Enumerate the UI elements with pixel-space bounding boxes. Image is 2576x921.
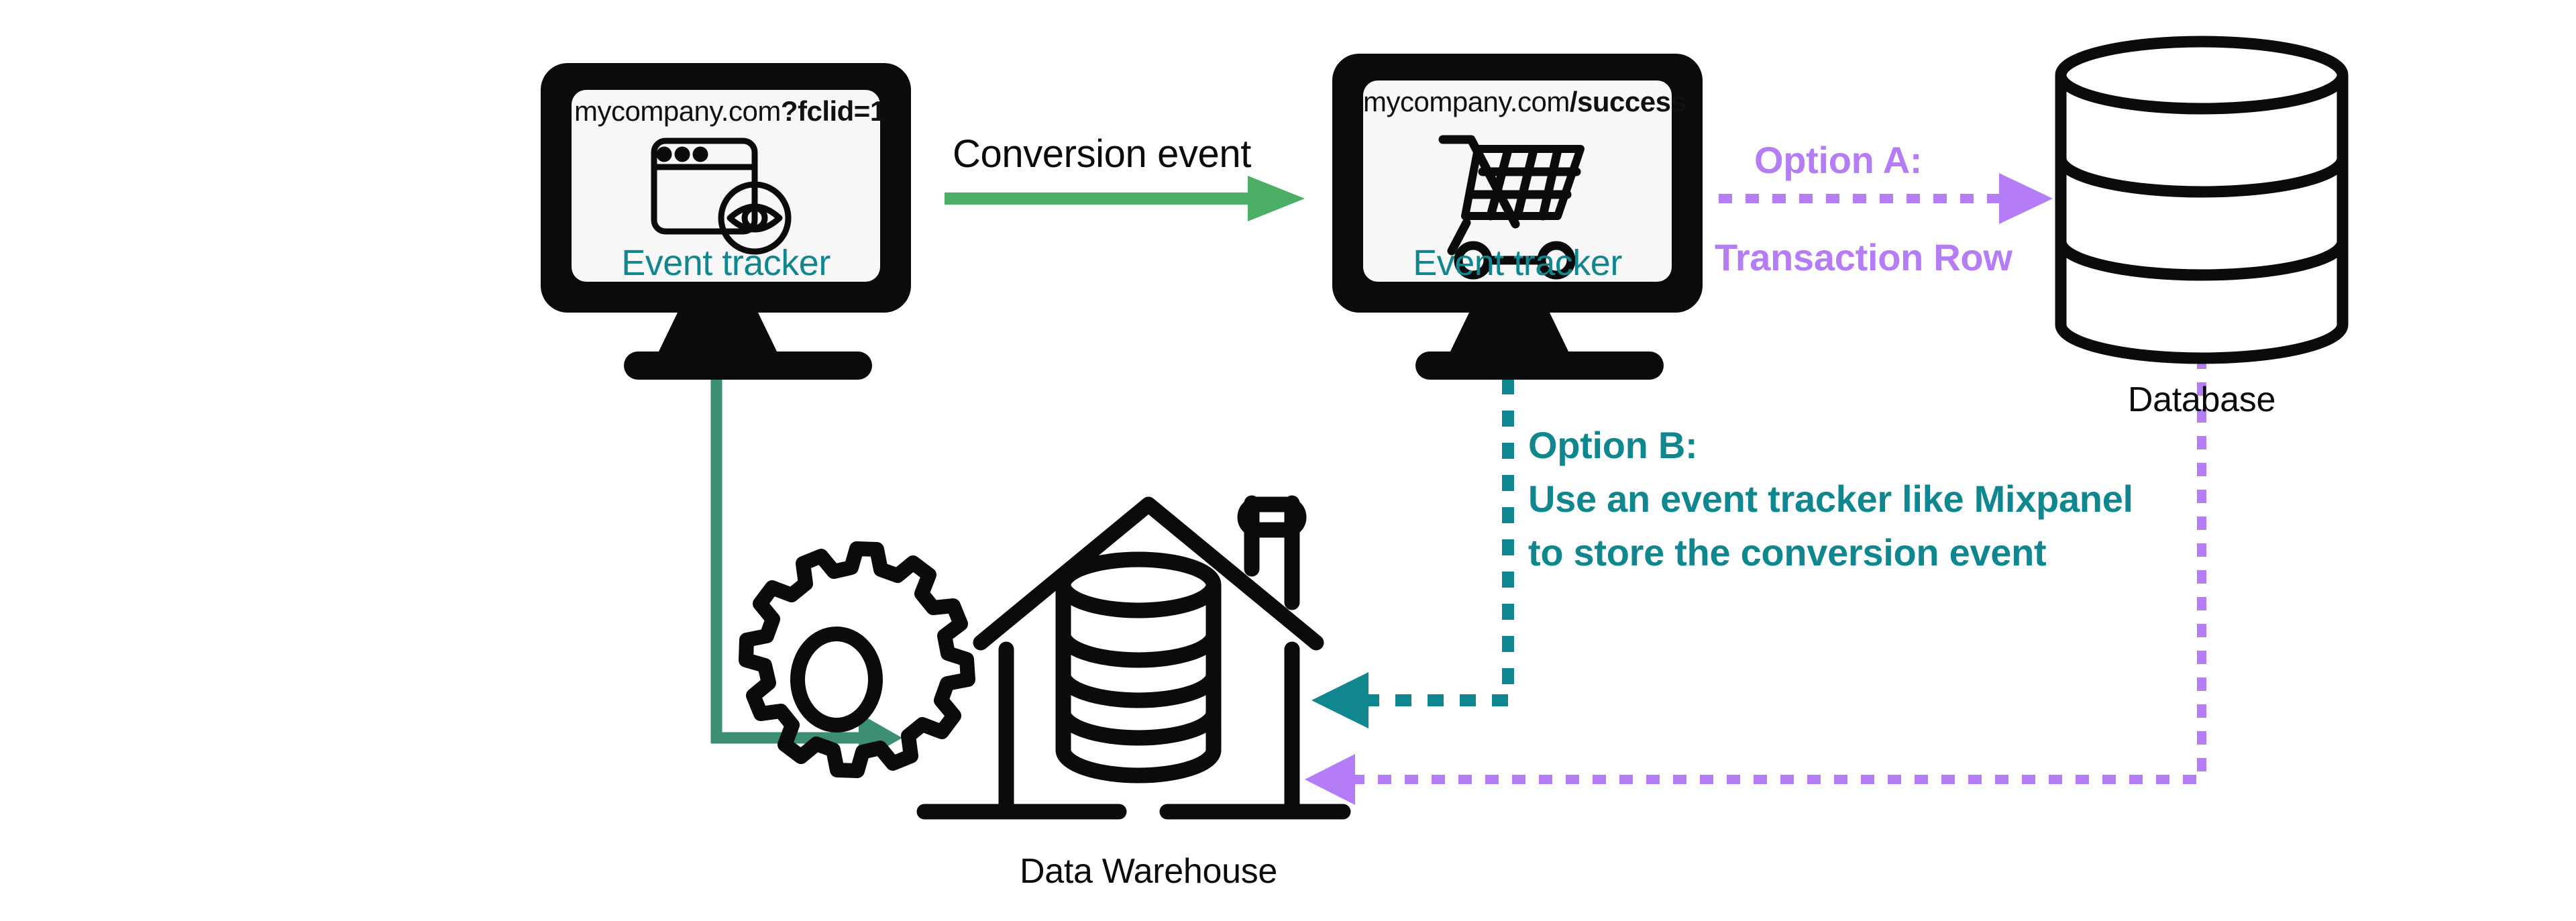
monitor-landing-url-prefix: mycompany.com	[574, 95, 781, 127]
monitor-success-url-prefix: mycompany.com	[1363, 86, 1570, 117]
flow-label-option-b-body-2: to store the conversion event	[1528, 530, 2046, 576]
monitor-success-url: mycompany.com/success	[1363, 85, 1672, 119]
database-band-2	[2061, 241, 2343, 275]
database-top-ellipse	[2061, 42, 2343, 109]
warehouse-cylinder-icon	[1063, 559, 1214, 775]
monitor-landing-url-suffix: ?fclid=1	[781, 95, 885, 127]
flow-conversion-event-arrow	[945, 176, 1305, 221]
flow-database-to-warehouse	[1305, 356, 2202, 805]
monitor-landing-url: mycompany.com?fclid=1	[574, 94, 877, 128]
monitor-success-url-suffix: /success	[1570, 86, 1686, 117]
flow-label-conversion-event: Conversion event	[953, 131, 1251, 178]
node-database[interactable]	[2061, 42, 2343, 358]
data-warehouse-caption: Data Warehouse	[934, 851, 1363, 893]
monitor-landing-stand-base	[624, 351, 872, 380]
database-caption: Database	[2068, 379, 2336, 421]
node-data-warehouse[interactable]	[746, 503, 1343, 812]
flow-label-option-a-title: Option A:	[1754, 138, 1922, 183]
database-band-1	[2061, 158, 2343, 192]
monitor-landing-stand-neck	[657, 313, 778, 354]
database-body	[2061, 75, 2343, 358]
monitor-success-caption: Event tracker	[1363, 241, 1672, 286]
monitor-landing-caption: Event tracker	[574, 241, 877, 286]
flow-label-option-b-title: Option B:	[1528, 423, 1697, 468]
monitor-success-stand-base	[1415, 351, 1664, 380]
diagram-canvas: mycompany.com?fclid=1 Event tracker myco…	[0, 0, 2576, 921]
monitor-success-stand-neck	[1449, 313, 1570, 354]
flow-label-option-b-body-1: Use an event tracker like Mixpanel	[1528, 476, 2133, 522]
diagram-graphics	[0, 0, 2576, 921]
flow-label-option-a-body: Transaction Row	[1715, 235, 2012, 280]
